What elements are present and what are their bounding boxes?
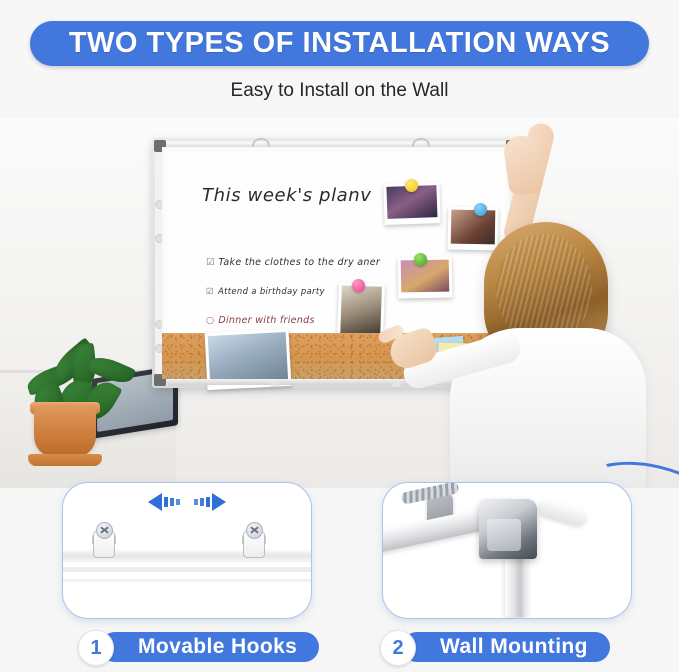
wall-bracket — [479, 499, 537, 559]
feature-1-number: 1 — [90, 637, 101, 660]
plant-saucer — [28, 454, 102, 466]
page-subtitle: Easy to Install on the Wall — [0, 80, 679, 102]
feature-2-number: 2 — [392, 637, 403, 660]
hook-left — [91, 523, 115, 557]
arrow-left-icon — [148, 493, 180, 511]
bracket-inner — [487, 519, 521, 551]
infographic-page: TWO TYPES OF INSTALLATION WAYS Easy to I… — [0, 0, 679, 672]
pink-magnet — [352, 279, 365, 292]
checklist-item-label: Take the clothes to the dry aner — [218, 257, 380, 268]
screw-icon — [246, 522, 263, 539]
page-title: TWO TYPES OF INSTALLATION WAYS — [69, 27, 610, 60]
checklist-item: ☑ Attend a birthday party — [206, 287, 325, 297]
screw-icon — [96, 522, 113, 539]
aluminum-rail-line — [62, 579, 312, 582]
checklist-item: ☑ Take the clothes to the dry aner — [206, 257, 380, 268]
tray-nub — [270, 382, 279, 387]
feature-2-pill: Wall Mounting — [402, 632, 610, 662]
title-banner: TWO TYPES OF INSTALLATION WAYS — [30, 21, 649, 66]
feature-1-pill: Movable Hooks — [100, 632, 319, 662]
movable-hooks-card — [62, 482, 312, 619]
arrow-right-icon — [194, 493, 226, 511]
photo-image — [208, 332, 288, 384]
photo-image — [340, 285, 382, 336]
whiteboard-title-text: This week's planv — [202, 185, 372, 206]
tray-nub — [392, 382, 401, 387]
checklist-item-label: Attend a birthday party — [218, 287, 325, 297]
checkbox-icon: ○ — [206, 315, 215, 326]
checkbox-icon: ☑ — [206, 257, 215, 268]
hero-scene: This week's planv ☑ Take the clothes to … — [0, 118, 679, 488]
checklist-item: ○ Dinner with friends — [206, 315, 315, 326]
yellow-magnet — [405, 179, 418, 192]
movement-arrows — [63, 493, 311, 511]
plant-pot — [34, 406, 96, 458]
checkbox-icon: ☑ — [206, 287, 215, 297]
header-band: TWO TYPES OF INSTALLATION WAYS Easy to I… — [0, 0, 679, 122]
feature-2-number-badge: 2 — [380, 630, 416, 666]
feature-1-number-badge: 1 — [78, 630, 114, 666]
checklist-item-label: Dinner with friends — [218, 315, 314, 326]
feature-1-text: Movable Hooks — [138, 635, 297, 659]
aluminum-rail-line — [62, 567, 312, 572]
hook-right — [241, 523, 265, 557]
person-mounting-board — [424, 160, 670, 488]
feature-2-text: Wall Mounting — [440, 635, 588, 659]
